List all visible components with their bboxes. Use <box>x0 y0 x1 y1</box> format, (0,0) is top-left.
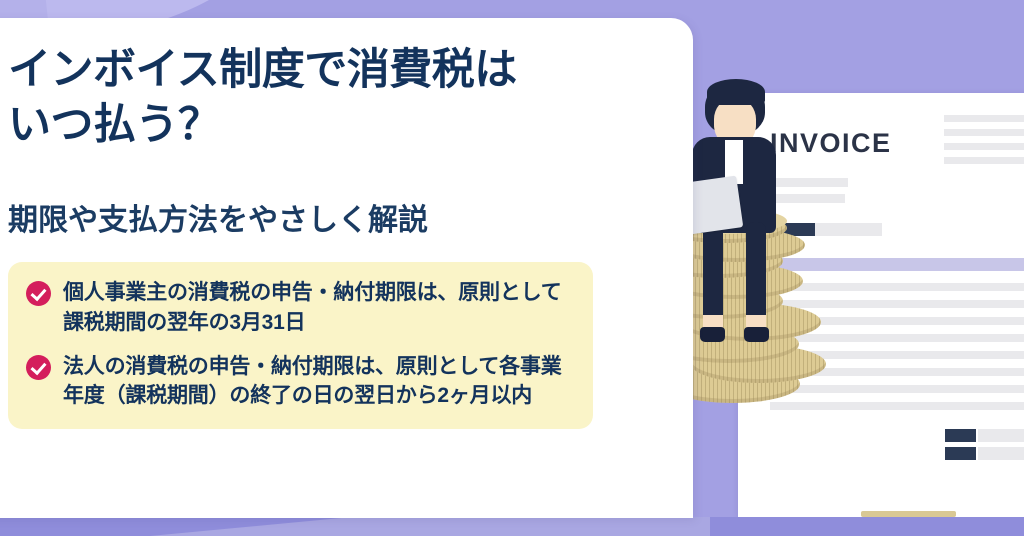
person-shoe-right <box>744 327 769 342</box>
page-title-line-2: いつ払う？ <box>8 98 668 153</box>
list-item: 法人の消費税の申告・納付期限は、原則として各事業年度（課税期間）の終了の日の翌日… <box>26 352 575 412</box>
invoice-body-line <box>770 178 848 187</box>
invoice-table-header <box>770 258 1024 271</box>
person-fringe <box>707 79 765 105</box>
person-leg-left <box>703 222 723 326</box>
page-subtitle: 期限や支払方法をやさしく解説 <box>8 195 648 239</box>
invoice-total-label <box>945 429 976 442</box>
check-circle-icon <box>26 355 51 380</box>
invoice-total-bg <box>978 447 1024 460</box>
invoice-title: INVOICE <box>770 128 892 159</box>
invoice-table-row <box>770 385 1024 393</box>
page-title-line-1: インボイス制度で消費税は <box>8 43 668 98</box>
person-leg-right <box>746 222 766 326</box>
invoice-table-row <box>770 402 1024 410</box>
invoice-meta-line <box>944 157 1024 164</box>
key-points-callout: 個人事業主の消費税の申告・納付期限は、原則として課税期間の翌年の3月31日 法人… <box>8 262 593 429</box>
invoice-table-row <box>770 283 1024 291</box>
invoice-body-line <box>770 194 845 203</box>
list-item-label: 個人事業主の消費税の申告・納付期限は、原則として課税期間の翌年の3月31日 <box>63 278 575 338</box>
invoice-total-label <box>945 447 976 460</box>
list-item: 個人事業主の消費税の申告・納付期限は、原則として課税期間の翌年の3月31日 <box>26 278 575 338</box>
invoice-meta-line <box>944 143 1024 150</box>
invoice-total-bg <box>978 429 1024 442</box>
page-title: インボイス制度で消費税は いつ払う？ <box>8 43 668 153</box>
invoice-table-row <box>770 300 1024 308</box>
person-shoe-left <box>700 327 725 342</box>
check-circle-icon <box>26 281 51 306</box>
invoice-meta-line <box>944 115 1024 122</box>
invoice-meta-line <box>944 129 1024 136</box>
slide-canvas: INVOICE <box>0 0 1024 536</box>
content-card: インボイス制度で消費税は いつ払う？ 期限や支払方法をやさしく解説 個人事業主の… <box>0 18 693 518</box>
invoice-table-row <box>770 334 1024 342</box>
list-item-label: 法人の消費税の申告・納付期限は、原則として各事業年度（課税期間）の終了の日の翌日… <box>63 352 575 412</box>
